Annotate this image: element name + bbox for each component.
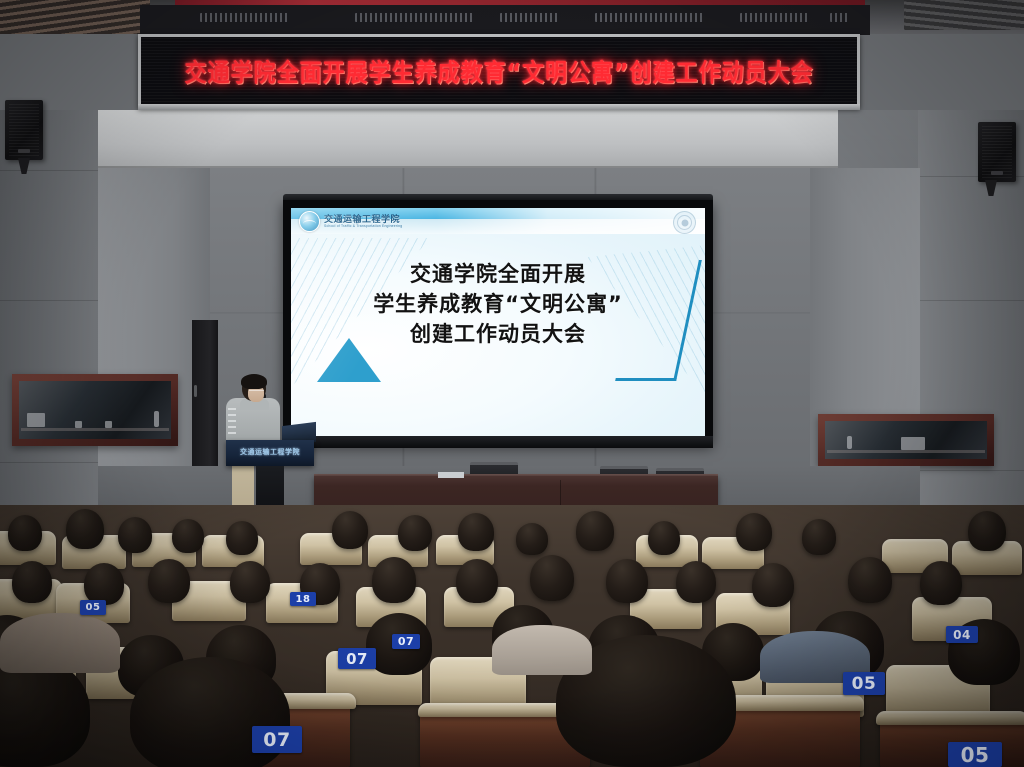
wall-display-case-left: [12, 374, 178, 446]
audience-head: [920, 561, 962, 605]
audience-head: [648, 521, 680, 555]
audience-head: [752, 563, 794, 607]
podium-stand: [256, 466, 284, 510]
audience-seating: [0, 505, 1024, 767]
audience-head: [802, 519, 836, 555]
presentation-slide: 交通运输工程学院 School of Traffic & Transportat…: [291, 208, 705, 436]
stage-soffit: [98, 110, 838, 168]
seat-number-badge: 05: [843, 672, 885, 695]
audience-head: [12, 561, 52, 603]
auditorium-photo: 交通学院全面开展学生养成教育“文明公寓”创建工作动员大会: [0, 0, 1024, 767]
wall-speaker-right-icon: [978, 122, 1016, 182]
slide-title: 交通学院全面开展 学生养成教育“文明公寓” 创建工作动员大会: [291, 260, 705, 349]
ceiling-slats-left: [0, 0, 150, 34]
audience-head: [576, 511, 614, 551]
seat-top-rail[interactable]: [876, 711, 1024, 725]
audience-head: [398, 515, 432, 551]
audience-head: [968, 511, 1006, 551]
seat-number-badge: 07: [252, 726, 302, 753]
seat-number-badge: 18: [290, 592, 316, 606]
side-wall-left: [0, 110, 100, 530]
audience-head: [848, 557, 892, 603]
logo-text-cn: 交通运输工程学院: [324, 215, 402, 224]
led-banner-text: 交通学院全面开展学生养成教育“文明公寓”创建工作动员大会: [185, 53, 814, 89]
wall-speaker-left-icon: [5, 100, 43, 160]
audience-head: [516, 523, 548, 555]
audience-head: [676, 561, 716, 603]
globe-icon: [299, 211, 320, 232]
audience-head: [458, 513, 494, 551]
slide-institution-logo: 交通运输工程学院 School of Traffic & Transportat…: [299, 211, 402, 232]
audience-head: [66, 509, 104, 549]
wall-display-case-right: [818, 414, 994, 466]
projection-screen: 交通运输工程学院 School of Traffic & Transportat…: [283, 200, 713, 444]
projection-screen-bottom-bar: [283, 436, 713, 448]
seat-number-badge: 05: [948, 742, 1002, 767]
glasses-icon: [249, 390, 264, 394]
audience-head: [84, 563, 124, 605]
audience-shoulders: [492, 625, 592, 675]
university-seal-icon: [673, 211, 696, 234]
audience-head: [148, 559, 190, 603]
led-banner: 交通学院全面开展学生养成教育“文明公寓”创建工作动员大会: [138, 34, 860, 108]
audience-head: [606, 559, 648, 603]
seat-number-badge: 05: [80, 600, 106, 615]
audience-head: [8, 515, 42, 551]
ceiling-slats-right: [904, 0, 1024, 30]
podium-label: 交通运输工程学院: [226, 447, 314, 457]
seat-number-badge: 04: [946, 626, 978, 643]
upper-led-strip: [140, 5, 870, 35]
door-handle-icon: [194, 385, 197, 397]
podium: 交通运输工程学院: [226, 440, 314, 466]
presenter-sleeve-stripe: [228, 408, 236, 434]
seat-number-badge: 07: [338, 648, 376, 669]
audience-head: [736, 513, 772, 551]
table-document: [438, 472, 464, 478]
seat-number-badge: 07: [392, 634, 420, 649]
led-banner-bottom-edge: [138, 104, 860, 110]
audience-head: [172, 519, 204, 553]
audience-head: [230, 561, 270, 603]
audience-head: [530, 555, 574, 601]
audience-head: [226, 521, 258, 555]
audience-head: [332, 511, 368, 549]
audience-head: [456, 559, 498, 603]
audience-head: [118, 517, 152, 553]
slide-title-line-2: 学生养成教育“文明公寓”: [291, 290, 705, 320]
logo-text-en: School of Traffic & Transportation Engin…: [324, 225, 402, 228]
slide-title-line-1: 交通学院全面开展: [291, 260, 705, 290]
audience-head: [372, 557, 416, 603]
presenter-hair: [241, 374, 267, 389]
audience-shoulders: [0, 613, 120, 673]
slide-title-line-3: 创建工作动员大会: [291, 320, 705, 350]
